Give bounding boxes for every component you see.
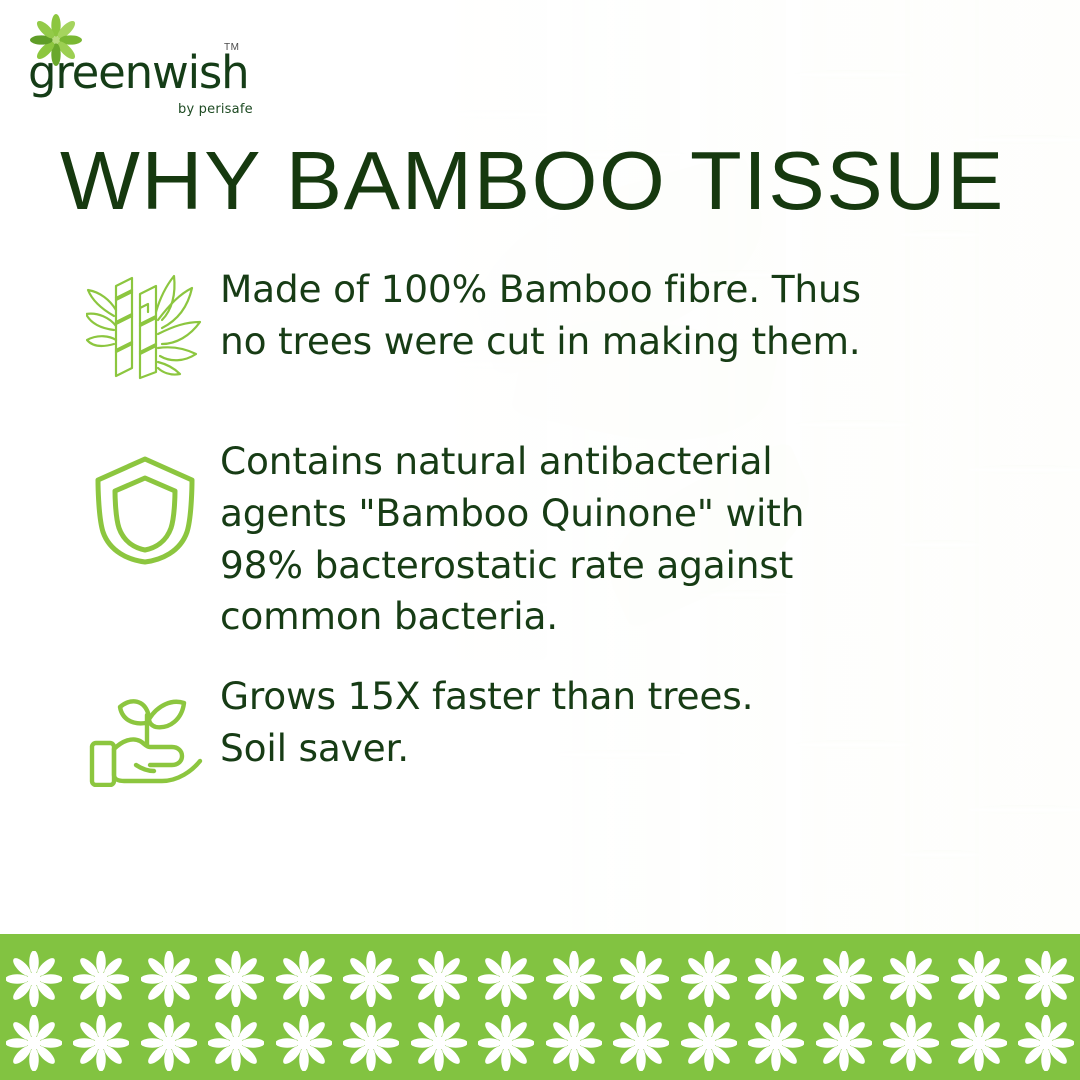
poster-canvas: greenwish TM by perisafe WHY BAMBOO TISS… — [0, 0, 1080, 1080]
flower-pattern-icon — [878, 1012, 946, 1074]
flower-pattern-icon — [1013, 948, 1080, 1010]
bamboo-stalks-icon — [70, 262, 220, 396]
page-title: WHY BAMBOO TISSUE — [60, 133, 1005, 229]
feature-text: Made of 100% Bamboo fibre. Thus no trees… — [220, 262, 1030, 368]
list-item: Made of 100% Bamboo fibre. Thus no trees… — [70, 262, 1030, 396]
flower-pattern-icon — [338, 1012, 406, 1074]
flower-pattern-icon — [473, 1012, 541, 1074]
list-item: Contains natural antibacterial agents "B… — [70, 434, 1030, 643]
flower-pattern-icon — [405, 948, 473, 1010]
flower-pattern-icon — [270, 1012, 338, 1074]
feature-text: Grows 15X faster than trees. Soil saver. — [220, 669, 1030, 775]
flower-pattern-icon — [203, 948, 271, 1010]
flower-pattern-icon — [743, 948, 811, 1010]
trademark-symbol: TM — [224, 42, 239, 53]
bottom-flower-band — [0, 934, 1080, 1080]
flower-pattern-icon — [68, 1012, 136, 1074]
flower-pattern-icon — [68, 948, 136, 1010]
flower-pattern-icon — [405, 1012, 473, 1074]
flower-pattern-icon — [608, 948, 676, 1010]
brand-tagline: by perisafe — [178, 102, 253, 117]
flower-row — [0, 1012, 1080, 1074]
list-item: Grows 15X faster than trees. Soil saver. — [70, 669, 1030, 807]
flower-pattern-icon — [810, 1012, 878, 1074]
flower-pattern-icon — [743, 1012, 811, 1074]
flower-pattern-icon — [608, 1012, 676, 1074]
flower-pattern-icon — [338, 948, 406, 1010]
flower-pattern-icon — [0, 1012, 68, 1074]
flower-pattern-icon — [675, 948, 743, 1010]
hand-holding-plant-icon — [70, 669, 220, 807]
flower-row — [0, 948, 1080, 1010]
flower-pattern-icon — [878, 948, 946, 1010]
flower-pattern-icon — [135, 948, 203, 1010]
flower-pattern-icon — [0, 948, 68, 1010]
flower-pattern-icon — [945, 948, 1013, 1010]
flower-pattern-icon — [473, 948, 541, 1010]
shield-icon — [70, 434, 220, 582]
brand-logo[interactable]: greenwish TM by perisafe — [18, 14, 278, 114]
flower-pattern-icon — [203, 1012, 271, 1074]
flower-pattern-icon — [135, 1012, 203, 1074]
flower-pattern-icon — [945, 1012, 1013, 1074]
brand-wordmark: greenwish — [28, 50, 248, 95]
feature-list: Made of 100% Bamboo fibre. Thus no trees… — [70, 262, 1030, 831]
flower-pattern-icon — [270, 948, 338, 1010]
flower-pattern-icon — [810, 948, 878, 1010]
flower-pattern-icon — [540, 948, 608, 1010]
flower-pattern-icon — [675, 1012, 743, 1074]
flower-pattern-icon — [540, 1012, 608, 1074]
flower-pattern-icon — [1013, 1012, 1080, 1074]
feature-text: Contains natural antibacterial agents "B… — [220, 434, 1030, 643]
